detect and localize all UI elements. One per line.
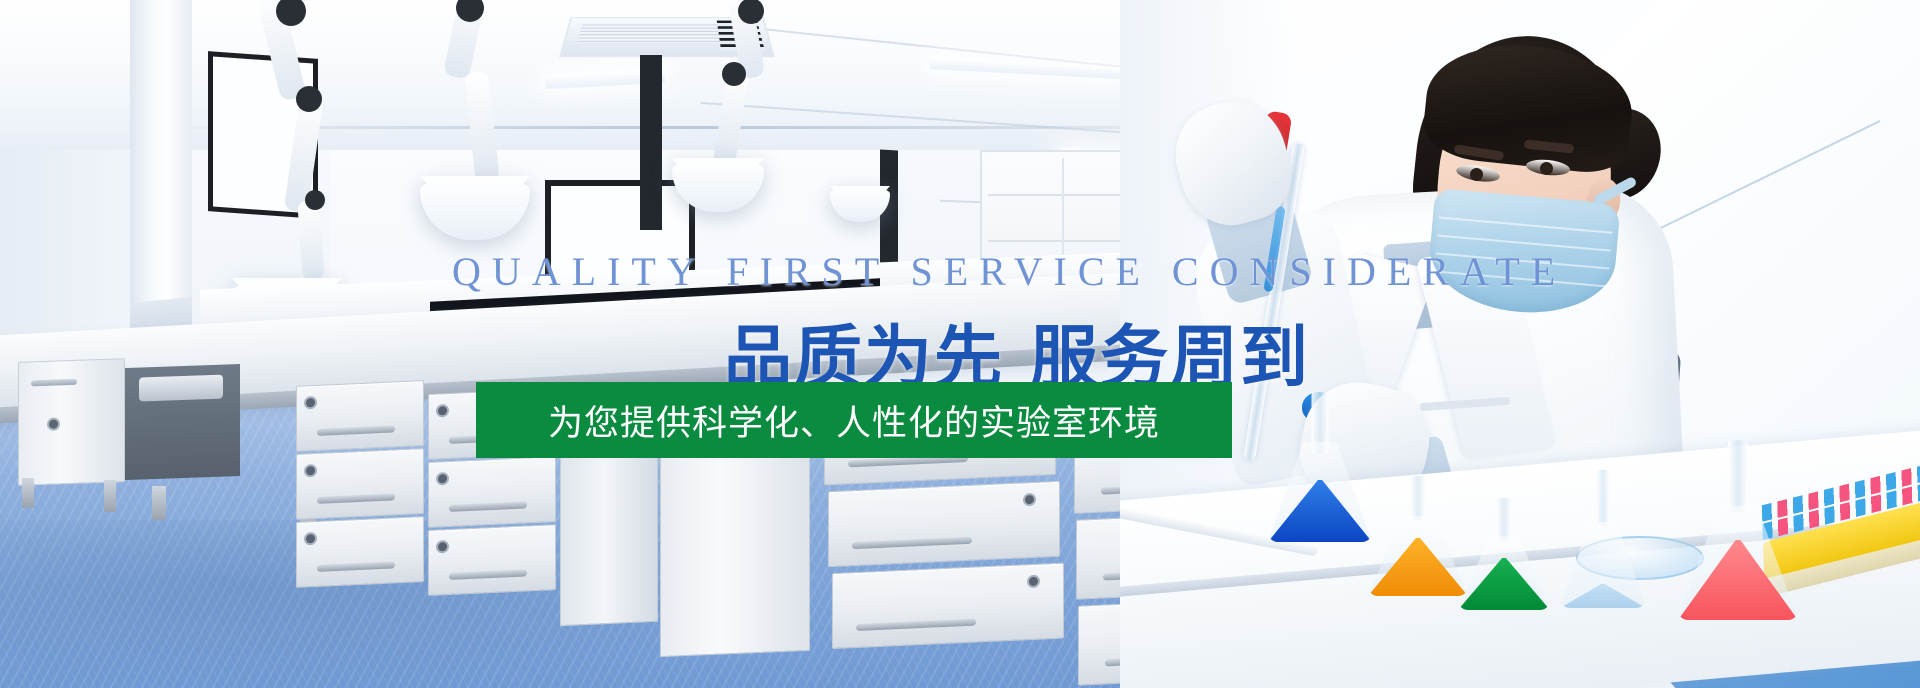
cabinet-drawer	[296, 516, 424, 588]
lab-hood-lamp	[420, 176, 530, 238]
under-bench-dark-cabinet	[125, 364, 240, 480]
cabinet-drawer	[428, 524, 556, 596]
bench-leg	[22, 478, 34, 508]
lab-hood-lamp	[672, 158, 764, 210]
lab-hood-lamp	[830, 186, 890, 220]
cabinet-drawer	[296, 448, 424, 520]
green-flask	[1458, 498, 1550, 610]
extraction-arm-joint	[722, 62, 746, 86]
lab-window-mullion	[640, 55, 662, 230]
under-bench-cabinet	[18, 358, 125, 486]
blue-flask	[1268, 392, 1372, 542]
hero-banner: QUALITY FIRST SERVICE CONSIDERATE 品质为先服务…	[0, 0, 1920, 688]
cabinet-drawer	[832, 563, 1064, 650]
clear-flask	[1560, 470, 1646, 608]
pupil-right	[1540, 162, 1553, 175]
lab-technician-scene	[1120, 0, 1920, 688]
pink-flask	[1678, 440, 1798, 620]
orange-flask	[1368, 476, 1468, 596]
extraction-arm-joint	[305, 190, 325, 210]
banner-subtitle-text: 为您提供科学化、人性化的实验室环境	[548, 395, 1160, 446]
bench-leg	[104, 480, 116, 512]
bench-leg	[152, 486, 166, 520]
cabinet-drawer	[296, 380, 424, 452]
cabinet-drawer	[428, 456, 556, 528]
extraction-arm-joint	[296, 86, 322, 112]
structural-column	[130, 0, 192, 330]
banner-subtitle-bar[interactable]: 为您提供科学化、人性化的实验室环境	[476, 382, 1232, 458]
cabinet-drawer	[828, 481, 1060, 568]
pupil-left	[1470, 168, 1483, 181]
